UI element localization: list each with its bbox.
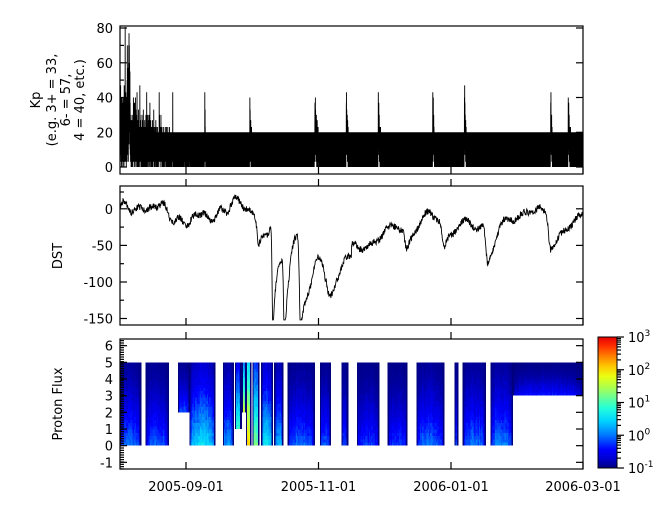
heatmap-cell (167, 430, 169, 433)
heatmap-cell (167, 372, 169, 375)
heatmap-cell (250, 372, 252, 375)
heatmap-cell (214, 433, 216, 436)
heatmap-cell (167, 439, 169, 442)
heatmap-cell (258, 407, 260, 410)
heatmap-cell (250, 391, 252, 394)
heatmap-cell (232, 433, 234, 436)
heatmap-cell (214, 378, 216, 381)
heatmap-cell (167, 433, 169, 436)
heatmap-cell (140, 417, 142, 420)
heatmap-cell (140, 382, 142, 385)
heatmap-cell (406, 417, 408, 420)
heatmap-cell (313, 394, 315, 397)
heatmap-cell (282, 410, 284, 413)
heatmap-cell (240, 362, 242, 365)
heatmap-cell (250, 433, 252, 436)
heatmap-cell (232, 388, 234, 391)
heatmap-cell (214, 394, 216, 397)
heatmap-cell (240, 383, 242, 386)
heatmap-cell (313, 378, 315, 381)
heatmap-cell (214, 398, 216, 401)
heatmap-cell (272, 407, 274, 410)
heatmap-cell (240, 385, 242, 388)
heatmap-cell (140, 369, 142, 372)
heatmap-cell (250, 430, 252, 433)
figure-canvas: 0 20 40 60 80 Kp (e.g. 3+ = 33, 6- = 57,… (0, 0, 665, 523)
heatmap-cell (406, 436, 408, 439)
heatmap-cell (313, 430, 315, 433)
heatmap-cell (214, 426, 216, 429)
heatmap-cell (347, 439, 349, 442)
heatmap-cell (240, 396, 242, 399)
heatmap-cell (272, 430, 274, 433)
heatmap-cell (313, 388, 315, 391)
heatmap-cell (140, 420, 142, 423)
heatmap-cell (232, 426, 234, 429)
panel-dst-ylabel: DST (51, 243, 66, 269)
heatmap-cell (250, 436, 252, 439)
heatmap-cell (214, 442, 216, 445)
heatmap-cell (347, 442, 349, 445)
heatmap-cell (329, 410, 331, 413)
heatmap-cell (167, 391, 169, 394)
heatmap-cell (214, 385, 216, 388)
panel-kp-ylabel-line2: (e.g. 3+ = 33, (45, 54, 60, 147)
heatmap-cell (378, 362, 380, 365)
heatmap-cell (232, 430, 234, 433)
heatmap-cell (329, 388, 331, 391)
heatmap-cell (313, 426, 315, 429)
heatmap-cell (347, 385, 349, 388)
heatmap-cell (167, 375, 169, 378)
heatmap-cell (167, 442, 169, 445)
heatmap-cell (329, 442, 331, 445)
heatmap-cell (258, 375, 260, 378)
panel-kp-ylabel-line1: Kp (29, 92, 44, 109)
heatmap-cell (378, 410, 380, 413)
heatmap-cell (406, 385, 408, 388)
heatmap-cell (406, 375, 408, 378)
heatmap-cell (313, 442, 315, 445)
heatmap-cell (347, 417, 349, 420)
heatmap-cell (347, 410, 349, 413)
heatmap-cell (250, 369, 252, 372)
heatmap-cell (282, 430, 284, 433)
heatmap-cell (313, 410, 315, 413)
heatmap-cell (167, 366, 169, 369)
heatmap-cell (167, 426, 169, 429)
heatmap-cell (214, 366, 216, 369)
heatmap-cell (214, 362, 216, 365)
heatmap-cell (240, 388, 242, 391)
heatmap-cell (258, 439, 260, 442)
heatmap-cell (250, 442, 252, 445)
heatmap-cell (272, 414, 274, 417)
heatmap-cell (272, 369, 274, 372)
heatmap-cell (406, 398, 408, 401)
heatmap-cell (240, 365, 242, 368)
heatmap-cell (167, 385, 169, 388)
heatmap-cell (329, 378, 331, 381)
heatmap-cell (272, 404, 274, 407)
heatmap-cell (406, 372, 408, 375)
heatmap-cell (378, 378, 380, 381)
panel-kp-ytick-20: 20 (96, 126, 113, 141)
heatmap-cell (347, 391, 349, 394)
heatmap-cell (378, 391, 380, 394)
heatmap-cell (167, 410, 169, 413)
heatmap-cell (258, 404, 260, 407)
panel-dst-ytick-0: 0 (105, 203, 113, 218)
heatmap-cell (406, 404, 408, 407)
heatmap-cell (406, 442, 408, 445)
heatmap-cell (313, 436, 315, 439)
heatmap-cell (232, 385, 234, 388)
heatmap-cell (140, 407, 142, 410)
heatmap-cell (406, 420, 408, 423)
heatmap-cell (378, 442, 380, 445)
heatmap-cell (329, 426, 331, 429)
heatmap-cell (406, 362, 408, 365)
heatmap-cell (347, 407, 349, 410)
background (0, 0, 665, 523)
panel-dst-ytick-m100: -100 (83, 276, 113, 291)
heatmap-cell (313, 398, 315, 401)
heatmap-cell (240, 424, 242, 427)
heatmap-cell (313, 366, 315, 369)
heatmap-cell (250, 382, 252, 385)
heatmap-cell (232, 366, 234, 369)
heatmap-cell (282, 426, 284, 429)
heatmap-cell (282, 442, 284, 445)
heatmap-cell (232, 362, 234, 365)
heatmap-cell (140, 366, 142, 369)
heatmap-cell (406, 382, 408, 385)
heatmap-cell (378, 394, 380, 397)
heatmap-cell (250, 439, 252, 442)
heatmap-cell (313, 391, 315, 394)
heatmap-cell (378, 423, 380, 426)
panel-dst-ytick-m150: -150 (83, 313, 113, 328)
heatmap-cell (282, 369, 284, 372)
heatmap-cell (378, 430, 380, 433)
heatmap-cell (329, 404, 331, 407)
heatmap-cell (240, 421, 242, 424)
heatmap-cell (258, 362, 260, 365)
heatmap-cell (282, 372, 284, 375)
heatmap-cell (282, 401, 284, 404)
heatmap-cell (329, 391, 331, 394)
heatmap-cell (140, 404, 142, 407)
heatmap-cell (329, 398, 331, 401)
heatmap-cell (378, 436, 380, 439)
heatmap-cell (167, 382, 169, 385)
heatmap-cell (347, 436, 349, 439)
heatmap-cell (282, 375, 284, 378)
heatmap-cell (250, 404, 252, 407)
heatmap-cell (240, 391, 242, 394)
heatmap-cell (406, 414, 408, 417)
heatmap-cell (250, 426, 252, 429)
panel-kp-ytick-40: 40 (96, 92, 113, 107)
heatmap-cell (258, 385, 260, 388)
heatmap-cell (250, 398, 252, 401)
heatmap-cell (250, 423, 252, 426)
heatmap-cell (140, 442, 142, 445)
heatmap-cell (167, 420, 169, 423)
heatmap-cell (329, 433, 331, 436)
heatmap-cell (406, 423, 408, 426)
heatmap-cell (329, 417, 331, 420)
heatmap-cell (250, 375, 252, 378)
heatmap-cell (240, 380, 242, 383)
heatmap-cell (406, 433, 408, 436)
heatmap-cell (347, 398, 349, 401)
heatmap-cell (406, 388, 408, 391)
heatmap-cell (232, 442, 234, 445)
heatmap-cell (214, 420, 216, 423)
heatmap-cell (214, 375, 216, 378)
heatmap-cell (272, 375, 274, 378)
heatmap-cell (282, 420, 284, 423)
heatmap-cell (250, 420, 252, 423)
heatmap-cell (282, 404, 284, 407)
heatmap-cell (347, 404, 349, 407)
heatmap-cell (232, 410, 234, 413)
heatmap-cell (329, 362, 331, 365)
panel-kp-ytick-60: 60 (96, 57, 113, 72)
heatmap-cell (140, 372, 142, 375)
heatmap-cell (282, 414, 284, 417)
heatmap-cell (258, 423, 260, 426)
heatmap-cell (232, 420, 234, 423)
panel-kp-ylabel-line4: 4 = 40, etc.) (73, 59, 88, 141)
heatmap-cell (406, 401, 408, 404)
heatmap-cell (214, 372, 216, 375)
heatmap-cell (272, 394, 274, 397)
heatmap-cell (240, 367, 242, 370)
heatmap-cell (214, 439, 216, 442)
heatmap-cell (240, 373, 242, 376)
heatmap-cell (406, 394, 408, 397)
heatmap-cell (282, 439, 284, 442)
heatmap-cell (140, 391, 142, 394)
heatmap-cell (167, 362, 169, 365)
heatmap-cell (167, 414, 169, 417)
heatmap-cell (140, 378, 142, 381)
heatmap-cell (258, 414, 260, 417)
heatmap-cell (272, 442, 274, 445)
heatmap-cell (258, 388, 260, 391)
heatmap-cell (329, 366, 331, 369)
heatmap-cell (313, 420, 315, 423)
heatmap-cell (347, 433, 349, 436)
panel-kp-ylabel-line3: 6- = 57, (59, 74, 74, 127)
heatmap-cell (272, 433, 274, 436)
heatmap-cell (167, 436, 169, 439)
heatmap-cell (232, 378, 234, 381)
plot-svg: 0 20 40 60 80 Kp (e.g. 3+ = 33, 6- = 57,… (0, 0, 665, 523)
heatmap-cell (240, 411, 242, 414)
heatmap-cell (232, 439, 234, 442)
heatmap-cell (258, 398, 260, 401)
heatmap-cell (167, 398, 169, 401)
heatmap-cell (313, 407, 315, 410)
heatmap-cell (214, 423, 216, 426)
heatmap-cell (347, 423, 349, 426)
heatmap-cell (329, 430, 331, 433)
heatmap-cell (313, 362, 315, 365)
heatmap-cell (347, 369, 349, 372)
heatmap-cell (378, 382, 380, 385)
heatmap-cell (347, 388, 349, 391)
heatmap-cell (282, 391, 284, 394)
heatmap-cell (214, 369, 216, 372)
heatmap-cell (272, 436, 274, 439)
heatmap-cell (167, 388, 169, 391)
heatmap-cell (167, 394, 169, 397)
heatmap-cell (258, 372, 260, 375)
heatmap-cell (250, 378, 252, 381)
heatmap-cell (258, 430, 260, 433)
heatmap-cell (347, 362, 349, 365)
heatmap-cell (272, 423, 274, 426)
heatmap-cell (347, 430, 349, 433)
heatmap-cell (313, 375, 315, 378)
heatmap-cell (347, 378, 349, 381)
heatmap-cell (272, 388, 274, 391)
heatmap-cell (329, 401, 331, 404)
heatmap-cell (240, 393, 242, 396)
heatmap-cell (347, 375, 349, 378)
heatmap-cell (250, 366, 252, 369)
heatmap-cell (406, 407, 408, 410)
heatmap-cell (232, 401, 234, 404)
heatmap-cell (232, 417, 234, 420)
heatmap-cell (167, 404, 169, 407)
heatmap-cell (378, 417, 380, 420)
heatmap-cell (272, 362, 274, 365)
heatmap-cell (313, 433, 315, 436)
heatmap-cell (214, 414, 216, 417)
panel-kp-ytick-0: 0 (105, 161, 113, 176)
heatmap-cell (272, 366, 274, 369)
panel-dst-ytick-m50: -50 (92, 239, 113, 254)
heatmap-cell (250, 407, 252, 410)
heatmap-cell (240, 426, 242, 429)
heatmap-cell (282, 398, 284, 401)
heatmap-cell (258, 401, 260, 404)
heatmap-cell (232, 423, 234, 426)
heatmap-cell (258, 433, 260, 436)
heatmap-cell (329, 369, 331, 372)
heatmap-cell (329, 372, 331, 375)
heatmap-cell (272, 391, 274, 394)
heatmap-cell (313, 439, 315, 442)
heatmap-cell (232, 398, 234, 401)
heatmap-cell (272, 382, 274, 385)
heatmap-cell (347, 426, 349, 429)
heatmap-cell (140, 414, 142, 417)
heatmap-cell (214, 417, 216, 420)
heatmap-cell (406, 391, 408, 394)
heatmap-cell (378, 433, 380, 436)
heatmap-cell (167, 369, 169, 372)
heatmap-cell (272, 410, 274, 413)
heatmap-cell (240, 398, 242, 401)
heatmap-cell (313, 385, 315, 388)
heatmap-cell (250, 414, 252, 417)
heatmap-cell (406, 439, 408, 442)
heatmap-cell (329, 407, 331, 410)
heatmap-cell (313, 423, 315, 426)
heatmap-cell (329, 436, 331, 439)
heatmap-cell (313, 401, 315, 404)
heatmap-cell (140, 439, 142, 442)
heatmap-cell (313, 382, 315, 385)
heatmap-cell (282, 388, 284, 391)
heatmap-cell (378, 414, 380, 417)
heatmap-cell (313, 404, 315, 407)
heatmap-cell (282, 423, 284, 426)
heatmap-cell (347, 366, 349, 369)
heatmap-cell (313, 369, 315, 372)
heatmap-cell (140, 398, 142, 401)
heatmap-cell (167, 401, 169, 404)
heatmap-cell (140, 423, 142, 426)
heatmap-cell (250, 388, 252, 391)
heatmap-cell (140, 375, 142, 378)
heatmap-cell (272, 378, 274, 381)
heatmap-cell (214, 391, 216, 394)
heatmap-cell (232, 372, 234, 375)
heatmap-cell (378, 372, 380, 375)
heatmap-cell (272, 398, 274, 401)
heatmap-cell (232, 375, 234, 378)
heatmap-cell (406, 410, 408, 413)
heatmap-cell (250, 385, 252, 388)
heatmap-cell (167, 417, 169, 420)
heatmap-cell (272, 426, 274, 429)
heatmap-cell (258, 369, 260, 372)
heatmap-cell (329, 439, 331, 442)
heatmap-cell (258, 378, 260, 381)
heatmap-cell (378, 388, 380, 391)
heatmap-cell (378, 401, 380, 404)
heatmap-cell (250, 394, 252, 397)
heatmap-cell (272, 420, 274, 423)
heatmap-cell (240, 370, 242, 373)
heatmap-cell (232, 382, 234, 385)
heatmap-cell (140, 433, 142, 436)
heatmap-cell (282, 407, 284, 410)
heatmap-cell (378, 398, 380, 401)
heatmap-cell (347, 420, 349, 423)
heatmap-cell (313, 372, 315, 375)
heatmap-cell (378, 407, 380, 410)
heatmap-cell (240, 414, 242, 417)
heatmap-cell (329, 423, 331, 426)
heatmap-cell (140, 385, 142, 388)
heatmap-cell (329, 385, 331, 388)
heatmap-cell (378, 385, 380, 388)
heatmap-cell (406, 369, 408, 372)
heatmap-cell (378, 439, 380, 442)
heatmap-cell (167, 407, 169, 410)
heatmap-cell (272, 385, 274, 388)
heatmap-cell (140, 401, 142, 404)
heatmap-cell (167, 423, 169, 426)
